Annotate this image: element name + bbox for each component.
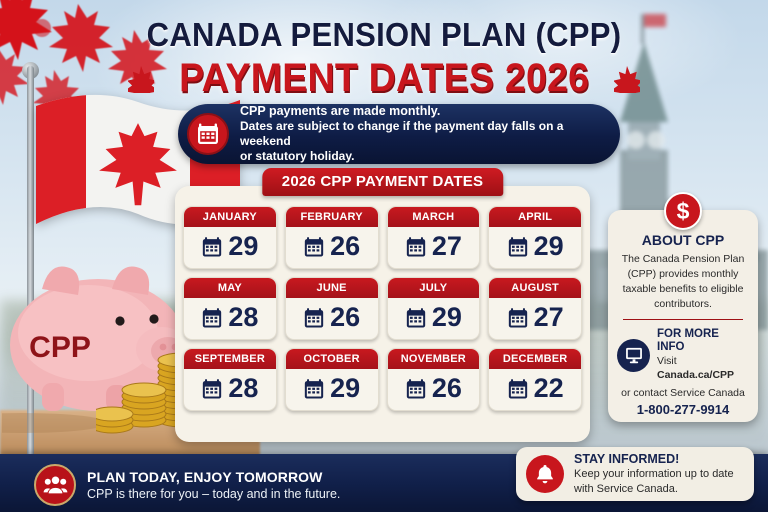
payment-day: 29: [330, 375, 360, 402]
month-body: 26: [286, 298, 378, 339]
month-card: FEBRUARY26: [285, 206, 379, 269]
month-body: 26: [286, 227, 378, 268]
payment-day: 26: [330, 304, 360, 331]
calendar-icon: [405, 307, 427, 329]
monitor-icon: [617, 339, 650, 372]
month-body: 29: [489, 227, 581, 268]
payment-day: 28: [228, 304, 258, 331]
payment-day: 28: [228, 375, 258, 402]
calendar-icon: [405, 236, 427, 258]
calendar-icon: [507, 378, 529, 400]
calendar-icon: [201, 378, 223, 400]
payment-day: 26: [330, 233, 360, 260]
calendar-icon: [303, 378, 325, 400]
month-name: APRIL: [489, 207, 581, 227]
month-card: APRIL29: [488, 206, 582, 269]
month-card: NOVEMBER26: [387, 348, 481, 411]
month-name: MARCH: [388, 207, 480, 227]
month-card-grid: JANUARY29FEBRUARY26MARCH27APRIL29MAY28JU…: [183, 206, 582, 411]
month-name: JUNE: [286, 278, 378, 298]
page-title: CANADA PENSION PLAN (CPP): [23, 16, 745, 54]
poster-headline: CANADA PENSION PLAN (CPP) PAYMENT DATES …: [0, 16, 768, 101]
payment-day: 29: [432, 304, 462, 331]
month-name: AUGUST: [489, 278, 581, 298]
stay-informed-card: STAY INFORMED! Keep your information up …: [516, 447, 754, 501]
month-card: OCTOBER29: [285, 348, 379, 411]
bell-icon: [526, 455, 564, 493]
canada-ca-link[interactable]: Canada.ca/CPP: [657, 369, 734, 381]
piggy-bank-label: CPP: [29, 331, 91, 364]
month-card: AUGUST27: [488, 277, 582, 340]
plan-today-block: PLAN TODAY, ENJOY TOMORROW CPP is there …: [34, 464, 340, 506]
calendar-icon: [405, 378, 427, 400]
month-name: NOVEMBER: [388, 349, 480, 369]
plan-today-subtitle: CPP is there for you – today and in the …: [87, 487, 340, 501]
month-card: JANUARY29: [183, 206, 277, 269]
more-info-row: FOR MORE INFO Visit Canada.ca/CPP: [617, 328, 749, 383]
notice-line-3: or statutory holiday.: [240, 149, 606, 164]
dollar-sign-icon: $: [664, 192, 702, 230]
month-name: SEPTEMBER: [184, 349, 276, 369]
notice-text: CPP payments are made monthly. Dates are…: [240, 104, 606, 164]
month-body: 28: [184, 298, 276, 339]
stay-informed-subtitle: Keep your information up to date with Se…: [574, 467, 734, 496]
service-canada-phone: 1-800-277-9914: [617, 402, 749, 417]
page-subtitle: PAYMENT DATES 2026: [179, 56, 589, 101]
calendar-icon: [201, 236, 223, 258]
month-name: JULY: [388, 278, 480, 298]
payment-day: 27: [534, 304, 564, 331]
month-name: DECEMBER: [489, 349, 581, 369]
month-body: 26: [388, 369, 480, 410]
stay-informed-title: STAY INFORMED!: [574, 452, 734, 466]
month-body: 29: [184, 227, 276, 268]
month-body: 28: [184, 369, 276, 410]
payment-day: 22: [534, 375, 564, 402]
payment-day: 27: [432, 233, 462, 260]
calendar-icon: [201, 307, 223, 329]
month-card: JULY29: [387, 277, 481, 340]
stay-sub-line-1: Keep your information up to date: [574, 468, 734, 480]
more-info-title: FOR MORE INFO: [657, 328, 749, 356]
divider: [623, 319, 743, 320]
payment-day: 29: [228, 233, 258, 260]
calendar-icon: [303, 307, 325, 329]
month-name: JANUARY: [184, 207, 276, 227]
month-name: MAY: [184, 278, 276, 298]
stay-sub-line-2: with Service Canada.: [574, 483, 678, 495]
calendar-icon: [303, 236, 325, 258]
payment-dates-panel: 2026 CPP PAYMENT DATES JANUARY29FEBRUARY…: [175, 186, 590, 442]
month-body: 22: [489, 369, 581, 410]
notice-line-1: CPP payments are made monthly.: [240, 104, 606, 120]
more-info-contact: or contact Service Canada: [617, 387, 749, 399]
visit-prefix: Visit: [657, 355, 677, 367]
panel-tab-label: 2026 CPP PAYMENT DATES: [262, 168, 503, 196]
month-name: OCTOBER: [286, 349, 378, 369]
about-body: The Canada Pension Plan (CPP) provides m…: [617, 252, 749, 312]
about-title: ABOUT CPP: [617, 232, 749, 248]
cpp-payment-dates-poster: CPP: [0, 0, 768, 512]
month-body: 27: [489, 298, 581, 339]
month-card: DECEMBER22: [488, 348, 582, 411]
maple-leaf-icon: [614, 65, 640, 93]
footer-bar: PLAN TODAY, ENJOY TOMORROW CPP is there …: [0, 454, 768, 512]
payment-day: 29: [534, 233, 564, 260]
calendar-icon: [507, 307, 529, 329]
month-card: JUNE26: [285, 277, 379, 340]
plan-today-title: PLAN TODAY, ENJOY TOMORROW: [87, 469, 340, 485]
calendar-icon: [507, 236, 529, 258]
month-body: 29: [286, 369, 378, 410]
notice-line-2: Dates are subject to change if the payme…: [240, 119, 606, 149]
month-card: MARCH27: [387, 206, 481, 269]
month-body: 27: [388, 227, 480, 268]
month-card: SEPTEMBER28: [183, 348, 277, 411]
notice-banner: CPP payments are made monthly. Dates are…: [178, 104, 620, 164]
month-body: 29: [388, 298, 480, 339]
about-cpp-card: $ ABOUT CPP The Canada Pension Plan (CPP…: [608, 210, 758, 422]
month-name: FEBRUARY: [286, 207, 378, 227]
more-info-visit: Visit Canada.ca/CPP: [657, 355, 749, 382]
calendar-icon: [187, 113, 229, 155]
payment-day: 26: [432, 375, 462, 402]
month-card: MAY28: [183, 277, 277, 340]
people-icon: [34, 464, 76, 506]
maple-leaf-icon: [128, 65, 154, 93]
